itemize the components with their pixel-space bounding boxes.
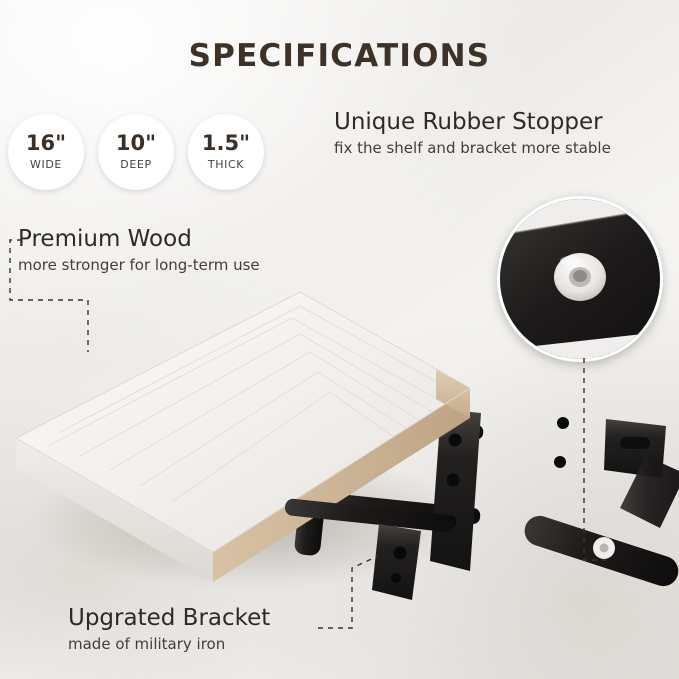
badge-width-value: 16" bbox=[26, 133, 66, 154]
badge-thickness: 1.5" THICK bbox=[188, 114, 264, 190]
bracket-loose-piece bbox=[521, 419, 679, 590]
callout-upgraded-bracket-sub: made of military iron bbox=[68, 635, 270, 653]
bracket-arms bbox=[290, 406, 569, 571]
badge-depth: 10" DEEP bbox=[98, 114, 174, 190]
bracket-front-arm bbox=[284, 498, 455, 600]
badge-width-label: WIDE bbox=[30, 158, 62, 171]
shelf-board bbox=[16, 292, 470, 582]
product-infographic: SPECIFICATIONS bbox=[0, 0, 679, 679]
spec-badges: 16" WIDE 10" DEEP 1.5" THICK bbox=[8, 114, 264, 190]
callout-upgraded-bracket: Upgrated Bracket made of military iron bbox=[68, 606, 270, 653]
callout-rubber-stopper: Unique Rubber Stopper fix the shelf and … bbox=[334, 110, 611, 157]
callout-rubber-stopper-heading: Unique Rubber Stopper bbox=[334, 110, 611, 135]
leader-rubber-stopper bbox=[584, 358, 612, 560]
page-title: SPECIFICATIONS bbox=[0, 38, 679, 74]
badge-thickness-label: THICK bbox=[208, 158, 244, 171]
badge-width: 16" WIDE bbox=[8, 114, 84, 190]
badge-depth-label: DEEP bbox=[120, 158, 151, 171]
callout-rubber-stopper-sub: fix the shelf and bracket more stable bbox=[334, 139, 611, 157]
callout-premium-wood-sub: more stronger for long-term use bbox=[18, 256, 260, 274]
callout-premium-wood: Premium Wood more stronger for long-term… bbox=[18, 227, 260, 274]
bracket-rear bbox=[299, 404, 475, 436]
badge-thickness-value: 1.5" bbox=[202, 133, 250, 154]
leader-upgraded-bracket bbox=[318, 556, 378, 628]
callout-premium-wood-heading: Premium Wood bbox=[18, 227, 260, 252]
rubber-stopper-zoom bbox=[497, 196, 663, 362]
callout-upgraded-bracket-heading: Upgrated Bracket bbox=[68, 606, 270, 631]
badge-depth-value: 10" bbox=[116, 133, 156, 154]
